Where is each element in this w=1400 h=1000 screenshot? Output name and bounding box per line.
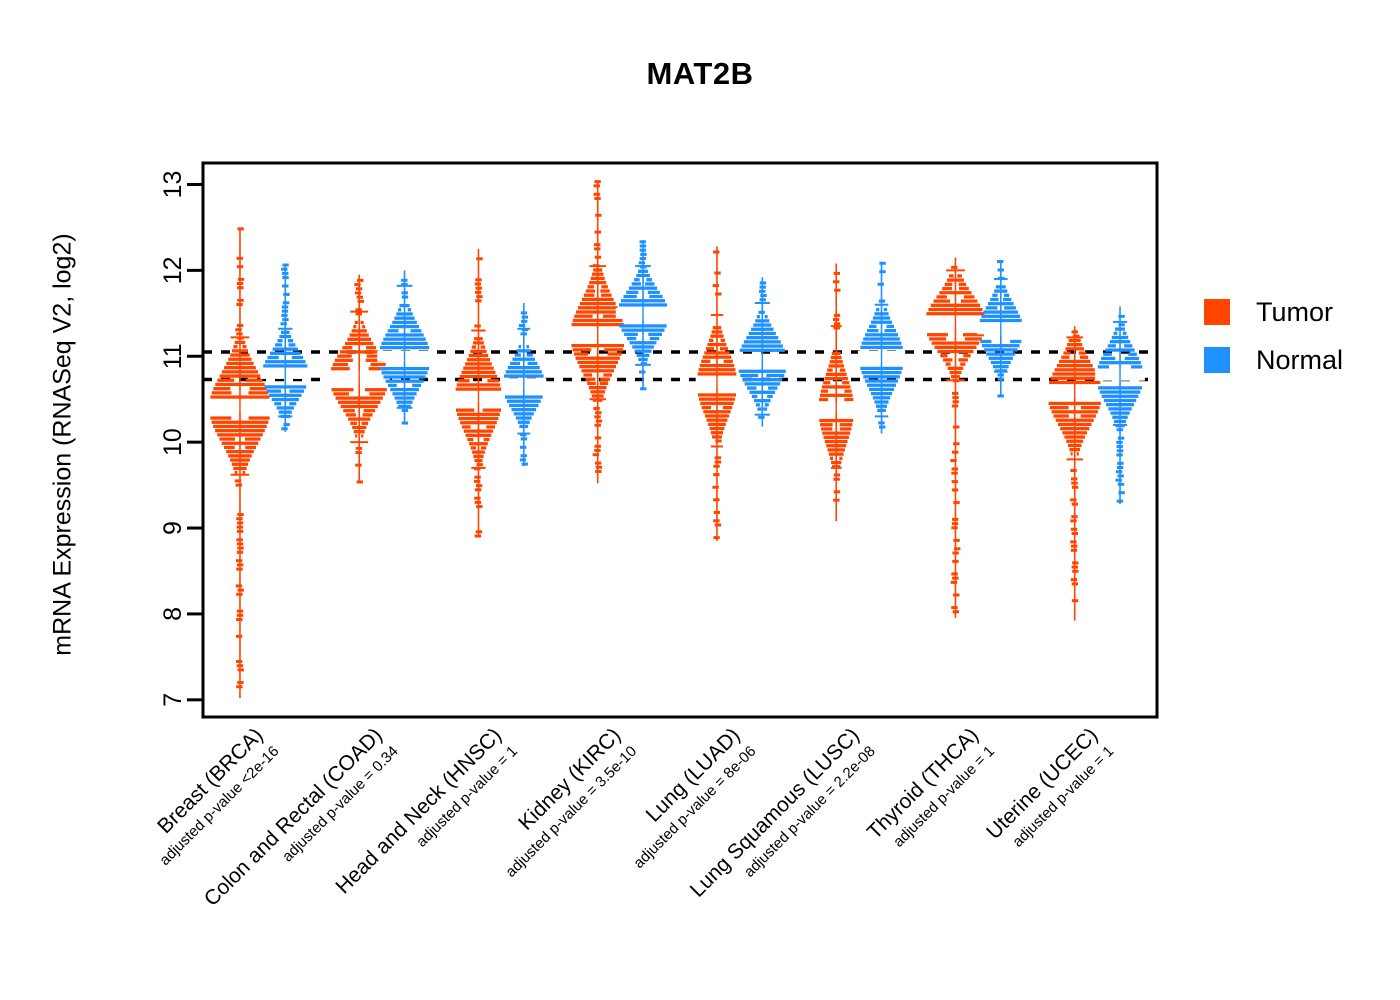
violin-point-row [1067,343,1082,346]
violin-point-row [699,368,736,371]
violin-point-row [366,346,376,349]
outlier-point [521,320,527,323]
violin-point-row [740,349,785,352]
violin-plot-canvas: 78910111213Breast (BRCA)adjusted p-value… [0,0,1400,1000]
violin-point-row [983,310,1018,313]
violin-point-row [1081,406,1100,409]
outlier-point [282,305,288,308]
violin-point-row [504,374,544,377]
outlier-point [714,272,720,275]
y-tick-label: 13 [159,171,187,199]
violin-point-row [585,378,595,381]
violin-point-row [1052,372,1096,375]
violin-point-row [279,335,291,338]
violin-point-row [288,339,293,342]
outlier-point [521,311,527,314]
outlier-point [878,283,884,286]
violin-point-row [460,375,498,378]
outlier-point [951,572,957,575]
outlier-point [237,563,243,566]
violin-point-row [963,354,970,357]
violin-point-row [350,422,357,425]
violin-point-row [709,339,713,342]
violin-point-row [645,282,654,285]
outlier-point [715,524,721,527]
outlier-point [834,473,840,476]
violin-point-row [887,325,894,328]
violin-point-row [980,340,991,343]
violin-point-row [248,391,268,394]
violin-point-row [335,359,353,362]
violin-point-row [232,463,248,466]
outlier-point [282,310,288,313]
outlier-point [834,490,840,493]
violin-point-row [621,299,665,302]
outlier-point [355,291,361,294]
violin-point-row [288,343,295,346]
violin-point-row [289,402,296,405]
violin-point-row [1049,402,1101,405]
violin-point-row [819,419,853,422]
violin-point-row [474,459,482,462]
outlier-point [952,522,958,525]
violin-point-row [577,361,618,364]
outlier-point [714,511,720,514]
violin-point-row [289,389,304,392]
violin-point-row [1108,344,1116,347]
violin-point-row [1077,452,1079,455]
violin-point-row [574,315,592,318]
outlier-point [237,257,243,260]
outlier-point [355,451,361,454]
violin-point-row [750,391,776,394]
outlier-point [951,606,957,609]
violin-point-row [989,357,1013,360]
violin-point-row [707,419,728,422]
violin-point-row [279,410,292,413]
outlier-point [520,458,526,461]
outlier-point [595,470,601,473]
outlier-point [237,664,243,667]
violin-point-row [469,442,488,445]
violin-point-row [608,352,622,355]
violin-point-row [220,374,261,377]
violin-point-row [1104,399,1136,402]
violin-point-row [584,294,595,297]
violin-point-row [649,295,662,298]
violin-point-row [518,421,530,424]
legend-item-tumor[interactable]: Tumor [1204,288,1394,336]
outlier-point [834,289,840,292]
outlier-point [594,180,600,183]
outlier-point [833,499,839,502]
outlier-point [474,324,480,327]
outlier-point [594,184,600,187]
outlier-point [282,318,288,321]
violin-point-row [578,306,618,309]
violin-point-row [600,378,610,381]
violin-point-row [395,396,415,399]
outlier-point [1070,519,1076,522]
violin-tumor-2 [454,249,504,538]
outlier-point [1072,330,1078,333]
violin-point-row [875,312,889,315]
violin-point-row [860,346,902,349]
violin-point-row [507,400,541,403]
outlier-point [596,420,602,423]
violin-point-row [386,380,424,383]
violin-point-row [932,341,980,344]
violin-point-row [457,413,500,416]
violin-point-row [635,350,652,353]
violin-point-row [385,333,423,336]
violin-point-row [471,446,476,449]
violin-point-row [980,319,1022,322]
violin-point-row [840,368,845,371]
outlier-point [640,240,646,243]
violin-point-row [702,406,711,409]
violin-point-row [217,379,234,382]
violin-point-row [940,354,947,357]
violin-point-row [512,358,535,361]
violin-point-row [821,389,828,392]
violin-point-row [600,382,609,385]
violin-point-row [572,323,624,326]
violin-point-row [277,406,294,409]
violin-point-row [840,423,853,426]
violin-point-row [636,274,650,277]
violin-point-row [942,287,952,290]
violin-point-row [472,345,476,348]
violin-point-row [469,354,489,357]
violin-point-row [842,381,849,384]
violin-point-row [473,455,483,458]
outlier-point [402,422,408,425]
outlier-point [402,296,408,299]
violin-point-row [574,352,588,355]
violin-point-row [936,295,946,298]
violin-point-row [885,329,896,332]
outlier-point [953,425,959,428]
violin-point-row [947,278,964,281]
violin-point-row [412,384,421,387]
violin-point-row [757,315,760,318]
outlier-point [1117,500,1123,503]
violin-point-row [1010,340,1021,343]
violin-point-row [1061,356,1069,359]
outlier-point [1118,437,1124,440]
outlier-point [998,378,1004,381]
violin-point-row [1059,360,1090,363]
violin-point-row [474,337,483,340]
outlier-point [283,293,289,296]
violin-point-row [756,403,760,406]
x-tick-group-7[interactable]: Uterine (UCEC)adjusted p-value = 1 [982,724,1117,859]
outlier-point [594,449,600,452]
violin-point-row [929,337,946,340]
violin-point-row [648,291,660,294]
outlier-point [951,266,957,269]
violin-point-row [986,352,1015,355]
violin-point-row [394,317,414,320]
violin-point-row [230,353,249,356]
outlier-point [953,400,959,403]
outlier-point [953,539,959,542]
outlier-point [1070,498,1076,501]
violin-point-row [844,398,853,401]
violin-tumor-3 [569,180,626,483]
outlier-point [402,291,408,294]
violin-point-row [765,315,768,318]
violin-point-row [576,357,620,360]
outlier-point [401,279,407,282]
outlier-point [237,227,243,230]
violin-point-row [982,344,1020,347]
violin-point-row [720,347,728,350]
violin-point-row [766,374,784,377]
outlier-point [1072,486,1078,489]
legend-label-tumor: Tumor [1256,297,1333,328]
violin-point-row [461,371,495,374]
outlier-point [759,290,765,293]
outlier-point [521,437,527,440]
violin-point-row [267,389,282,392]
violin-point-row [825,440,848,443]
violin-point-row [213,387,230,390]
outlier-point [879,270,885,273]
outlier-point [237,299,243,302]
outlier-point [1118,483,1124,486]
violin-point-row [828,364,843,367]
outlier-point [1117,428,1123,431]
violin-point-row [996,285,1006,288]
violin-point-row [219,437,235,440]
outlier-point [953,501,959,504]
violin-point-row [1102,395,1139,398]
violin-point-row [749,332,776,335]
outlier-point [475,534,481,537]
violin-point-row [590,390,605,393]
violin-point-row [711,431,723,434]
violin-point-row [460,421,497,424]
violin-point-row [1115,327,1125,330]
violin-point-row [463,366,493,369]
violin-point-row [576,310,619,313]
violin-point-row [992,294,997,297]
violin-point-row [233,345,237,348]
violin-point-row [337,354,352,357]
outlier-point [952,551,958,554]
outlier-point [521,332,527,335]
violin-point-row [840,427,851,430]
outlier-point [237,547,243,550]
outlier-point [237,513,243,516]
violin-point-row [361,321,364,324]
outlier-point [357,296,363,299]
violin-point-row [820,423,833,426]
violin-point-row [742,378,782,381]
violin-point-row [222,442,259,445]
outlier-point [595,462,601,465]
violin-point-row [464,429,494,432]
violin-point-row [519,425,528,428]
x-tick-group-6[interactable]: Thyroid (THCA)adjusted p-value = 1 [863,724,998,859]
violin-point-row [591,277,605,280]
violin-point-row [601,294,612,297]
violin-point-row [396,401,412,404]
violin-point-row [648,333,662,336]
violin-point-row [383,375,425,378]
violin-point-row [217,433,263,436]
violin-point-row [867,384,896,387]
violin-point-row [863,375,900,378]
violin-point-row [926,312,984,315]
violin-point-row [1064,435,1085,438]
violin-point-row [1054,414,1069,417]
violin-point-row [939,291,971,294]
violin-point-row [884,308,887,311]
violin-point-row [348,417,370,420]
violin-point-row [364,409,376,412]
y-tick-label: 10 [159,428,187,456]
outlier-point [1071,549,1077,552]
violin-point-row [943,358,952,361]
violin-point-row [510,362,520,365]
outlier-point [237,681,243,684]
outlier-point [713,251,719,254]
outlier-point [594,197,600,200]
outlier-point [282,284,288,287]
outlier-point [236,568,242,571]
violin-point-row [959,287,969,290]
violin-point-row [365,388,387,391]
outlier-point [997,260,1003,263]
outlier-point [640,245,646,248]
violin-point-row [388,329,399,332]
violin-point-row [877,409,886,412]
outlier-point [474,476,480,479]
violin-point-row [249,416,270,419]
outlier-point [713,284,719,287]
violin-point-row [1131,365,1142,368]
violin-point-row [213,425,267,428]
outlier-point [236,559,242,562]
outlier-point [713,498,719,501]
violin-point-row [988,302,1014,305]
violin-point-row [1112,416,1127,419]
outlier-point [640,253,646,256]
violin-point-row [721,339,725,342]
violin-normal-2 [501,303,546,466]
violin-point-row [269,394,301,397]
violin-point-row [511,408,536,411]
violin-point-row [382,371,428,374]
violin-point-row [862,342,902,345]
outlier-point [237,265,243,268]
violin-point-row [699,398,735,401]
outlier-point [237,521,243,524]
outlier-point [953,442,959,445]
violin-point-row [1066,440,1083,443]
violin-point-row [215,383,264,386]
violin-point-row [824,377,847,380]
violin-point-row [342,346,352,349]
violin-point-row [472,450,485,453]
outlier-point [1071,515,1077,518]
violin-point-row [619,324,666,327]
violin-point-row [986,306,998,309]
violin-point-row [623,295,636,298]
violin-point-row [1060,427,1089,430]
violin-point-row [517,349,531,352]
outlier-point [237,551,243,554]
outlier-point [715,440,721,443]
violin-point-row [245,446,256,449]
violin-tumor-5 [817,263,855,521]
violin-point-row [1003,298,1011,301]
violin-point-row [984,348,1017,351]
violin-point-row [250,387,267,390]
violin-point-row [212,421,269,424]
y-axis-ticks: 78910111213 [159,171,203,707]
violin-point-row [583,373,592,376]
outlier-point [236,538,242,541]
outlier-point [236,593,242,596]
violin-point-row [650,337,659,340]
outlier-point [952,404,958,407]
outlier-point [281,427,287,430]
violin-point-row [593,268,602,271]
outlier-point [639,371,645,374]
violin-point-row [961,299,978,302]
violin-point-row [484,438,490,441]
outlier-point [1070,469,1076,472]
outlier-point [594,193,600,196]
violin-point-row [527,353,533,356]
outlier-point [640,257,646,260]
outlier-point [476,287,482,290]
violin-point-row [580,302,616,305]
violin-tumor-6 [923,257,987,618]
violin-point-row [1051,377,1099,380]
outlier-point [998,268,1004,271]
violin-point-row [272,398,299,401]
outlier-point [357,480,363,483]
violin-point-row [865,379,898,382]
violin-point-row [713,326,722,329]
outlier-point [879,426,885,429]
violin-point-row [467,438,473,441]
outlier-point [951,472,957,475]
violin-normal-5 [858,262,905,434]
violin-point-row [353,325,356,328]
outlier-point [1071,578,1077,581]
violin-point-row [753,323,771,326]
violin-point-row [338,401,380,404]
violin-point-row [270,352,301,355]
outlier-point [236,517,242,520]
violin-point-row [273,347,298,350]
violin-point-row [934,299,951,302]
outlier-point [950,459,956,462]
legend-swatch-normal [1204,347,1230,373]
violin-point-row [528,362,538,365]
outlier-point [355,464,361,467]
violin-point-row [571,344,624,347]
outlier-point [595,436,601,439]
legend-item-normal[interactable]: Normal [1204,336,1394,384]
violin-point-row [991,361,1011,364]
